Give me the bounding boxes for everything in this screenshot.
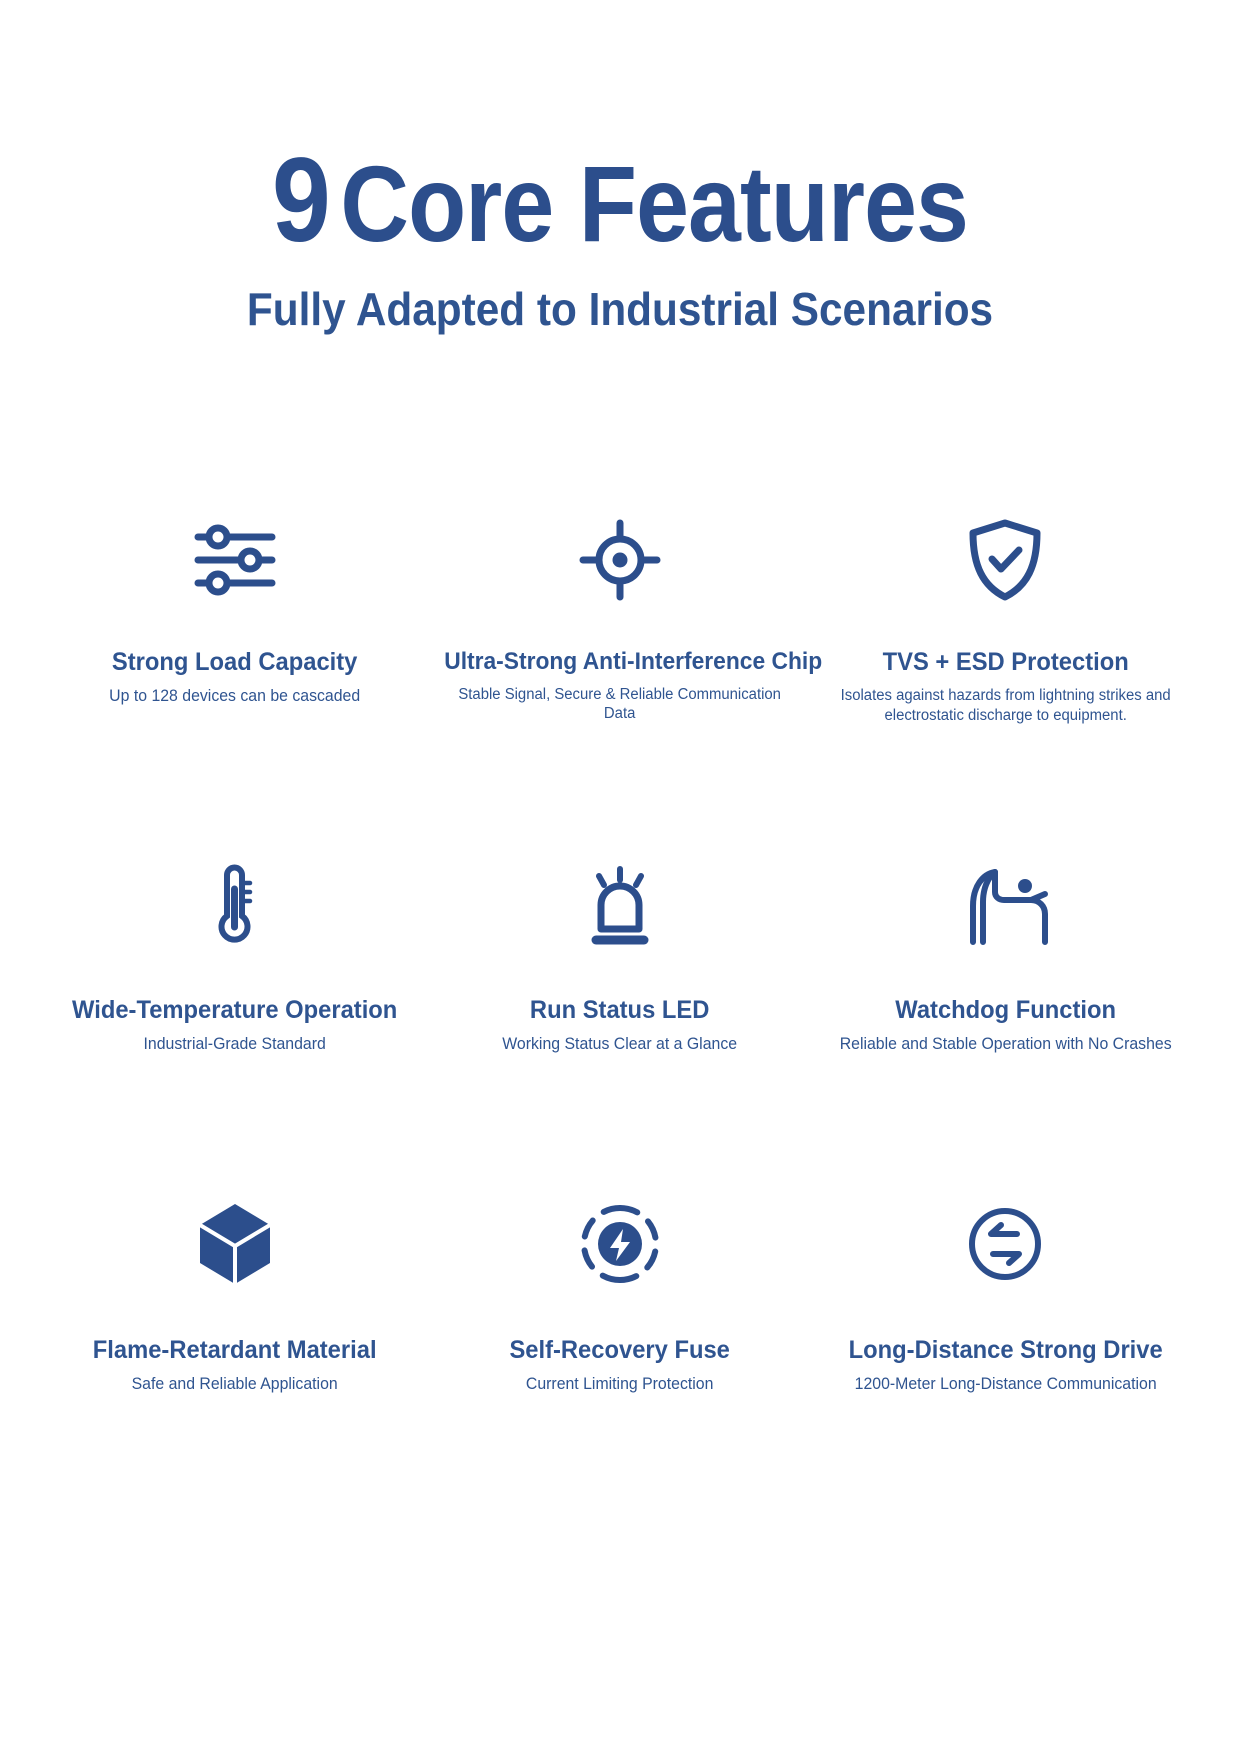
- feature-title: Run Status LED: [445, 996, 796, 1025]
- fuse-lightning-icon: [578, 1184, 662, 1304]
- sliders-icon: [192, 500, 278, 620]
- siren-beacon-icon: [583, 846, 657, 966]
- feature-grid: Strong Load Capacity Up to 128 devices c…: [42, 480, 1198, 1494]
- feature-card-self-recovery-fuse: Self-Recovery Fuse Current Limiting Prot…: [427, 1156, 812, 1494]
- feature-description: Working Status Clear at a Glance: [443, 1034, 798, 1055]
- feature-title: TVS + ESD Protection: [830, 648, 1181, 677]
- cube-box-icon: [196, 1184, 274, 1304]
- feature-text-block: Flame-Retardant Material Safe and Reliab…: [42, 1336, 427, 1395]
- bidirectional-transfer-icon: [965, 1184, 1045, 1304]
- feature-text-block: Long-Distance Strong Drive 1200-Meter Lo…: [813, 1336, 1198, 1395]
- feature-text-block: Self-Recovery Fuse Current Limiting Prot…: [427, 1336, 812, 1395]
- feature-description: Stable Signal, Secure & Reliable Communi…: [443, 685, 798, 725]
- feature-description: Isolates against hazards from lightning …: [828, 686, 1183, 726]
- crosshair-target-icon: [579, 500, 661, 620]
- feature-description: 1200-Meter Long-Distance Communication: [828, 1374, 1183, 1395]
- feature-text-block: Run Status LED Working Status Clear at a…: [427, 996, 812, 1055]
- feature-card-anti-interference-chip: Ultra-Strong Anti-Interference Chip Stab…: [427, 480, 812, 818]
- feature-description: Up to 128 devices can be cascaded: [57, 686, 412, 707]
- thermometer-icon: [207, 846, 263, 966]
- feature-text-block: Watchdog Function Reliable and Stable Op…: [813, 996, 1198, 1055]
- feature-card-watchdog-function: Watchdog Function Reliable and Stable Op…: [813, 818, 1198, 1156]
- feature-title: Long-Distance Strong Drive: [830, 1336, 1181, 1365]
- title-text: Core Features: [340, 143, 968, 264]
- feature-description: Safe and Reliable Application: [57, 1374, 412, 1395]
- feature-card-wide-temperature-operation: Wide-Temperature Operation Industrial-Gr…: [42, 818, 427, 1156]
- feature-title: Strong Load Capacity: [59, 648, 410, 677]
- page-header: 9Core Features Fully Adapted to Industri…: [0, 140, 1240, 335]
- feature-card-flame-retardant-material: Flame-Retardant Material Safe and Reliab…: [42, 1156, 427, 1494]
- feature-text-block: Wide-Temperature Operation Industrial-Gr…: [42, 996, 427, 1055]
- feature-title: Self-Recovery Fuse: [445, 1336, 796, 1365]
- feature-title: Ultra-Strong Anti-Interference Chip: [445, 648, 796, 676]
- shield-check-icon: [967, 500, 1043, 620]
- feature-title: Wide-Temperature Operation: [59, 996, 410, 1025]
- feature-description: Industrial-Grade Standard: [57, 1034, 412, 1055]
- feature-card-run-status-led: Run Status LED Working Status Clear at a…: [427, 818, 812, 1156]
- feature-card-strong-load-capacity: Strong Load Capacity Up to 128 devices c…: [42, 480, 427, 818]
- watchdog-dog-icon: [959, 846, 1051, 966]
- feature-description: Current Limiting Protection: [443, 1374, 798, 1395]
- feature-text-block: TVS + ESD Protection Isolates against ha…: [813, 648, 1198, 725]
- page-title: 9Core Features: [74, 140, 1165, 260]
- feature-text-block: Ultra-Strong Anti-Interference Chip Stab…: [427, 648, 812, 724]
- feature-text-block: Strong Load Capacity Up to 128 devices c…: [42, 648, 427, 707]
- feature-card-tvs-esd-protection: TVS + ESD Protection Isolates against ha…: [813, 480, 1198, 818]
- title-number: 9: [272, 133, 330, 267]
- page-subtitle: Fully Adapted to Industrial Scenarios: [50, 284, 1191, 335]
- feature-title: Watchdog Function: [830, 996, 1181, 1025]
- feature-card-long-distance-strong-drive: Long-Distance Strong Drive 1200-Meter Lo…: [813, 1156, 1198, 1494]
- feature-title: Flame-Retardant Material: [59, 1336, 410, 1365]
- feature-description: Reliable and Stable Operation with No Cr…: [828, 1034, 1183, 1055]
- feature-poster: 9Core Features Fully Adapted to Industri…: [0, 0, 1240, 1754]
